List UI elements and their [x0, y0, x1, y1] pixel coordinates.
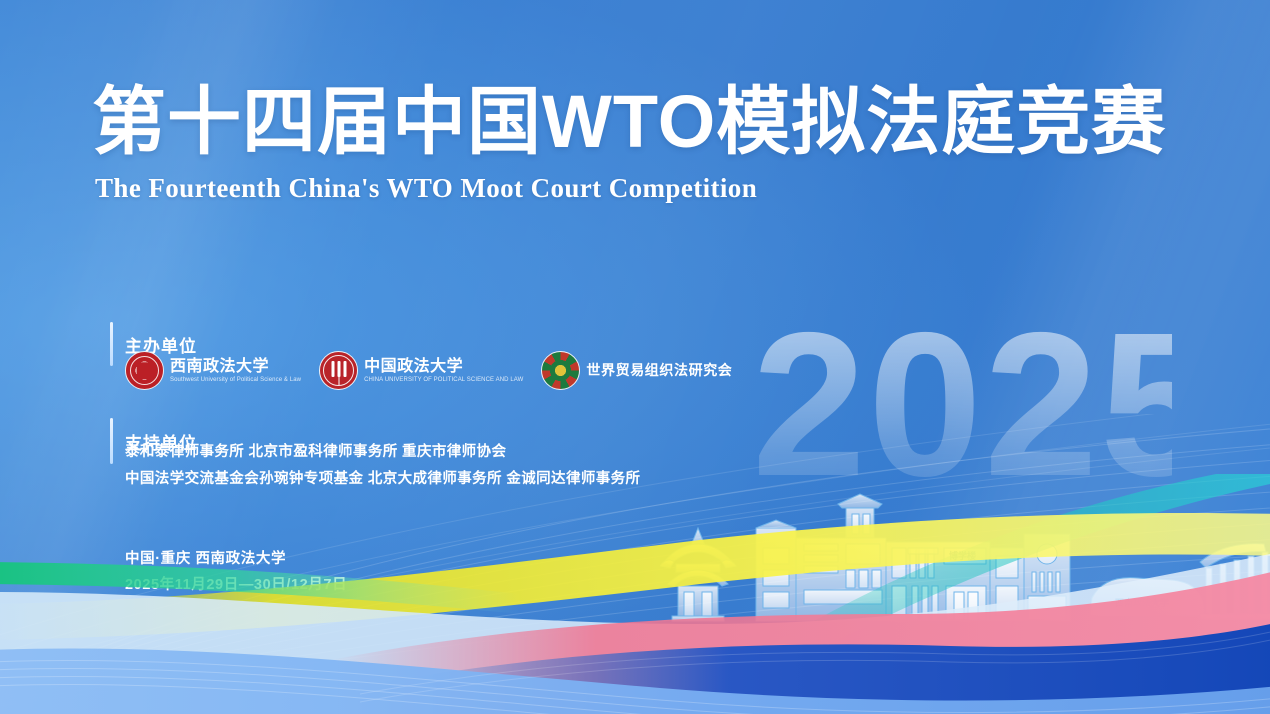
- host-organization-list: 西南政法大学 Southwest University of Political…: [125, 351, 732, 390]
- support-organization-line: 泰和泰律师事务所 北京市盈科律师事务所 重庆市律师协会: [125, 443, 640, 462]
- page-title: 第十四届中国WTO模拟法庭竞赛: [92, 83, 1166, 161]
- cupl-crest-icon: [319, 351, 358, 390]
- host-organization-item: 西南政法大学 Southwest University of Political…: [125, 351, 301, 390]
- poster-canvas: 2025 第十四届中国WTO模拟法庭竞赛 The Fourteenth Chin…: [0, 0, 1270, 714]
- host-organization-item: 世界贸易组织法研究会: [541, 351, 732, 390]
- host-organization-name: 世界贸易组织法研究会: [586, 362, 732, 379]
- host-organization-item: 中国政法大学 CHINA UNIVERSITY OF POLITICAL SCI…: [319, 351, 523, 390]
- wto-law-society-crest-icon: [541, 351, 580, 390]
- section-accent-bar: [110, 418, 113, 464]
- host-organization-name-en: Southwest University of Political Scienc…: [170, 377, 301, 384]
- decorative-waves: [0, 474, 1270, 714]
- swupl-crest-icon: [125, 351, 164, 390]
- host-organization-name-en: CHINA UNIVERSITY OF POLITICAL SCIENCE AN…: [364, 377, 523, 384]
- host-organization-name: 西南政法大学: [170, 358, 301, 375]
- host-organization-name: 中国政法大学: [364, 358, 523, 375]
- page-subtitle: The Fourteenth China's WTO Moot Court Co…: [95, 172, 757, 204]
- section-accent-bar: [110, 322, 113, 366]
